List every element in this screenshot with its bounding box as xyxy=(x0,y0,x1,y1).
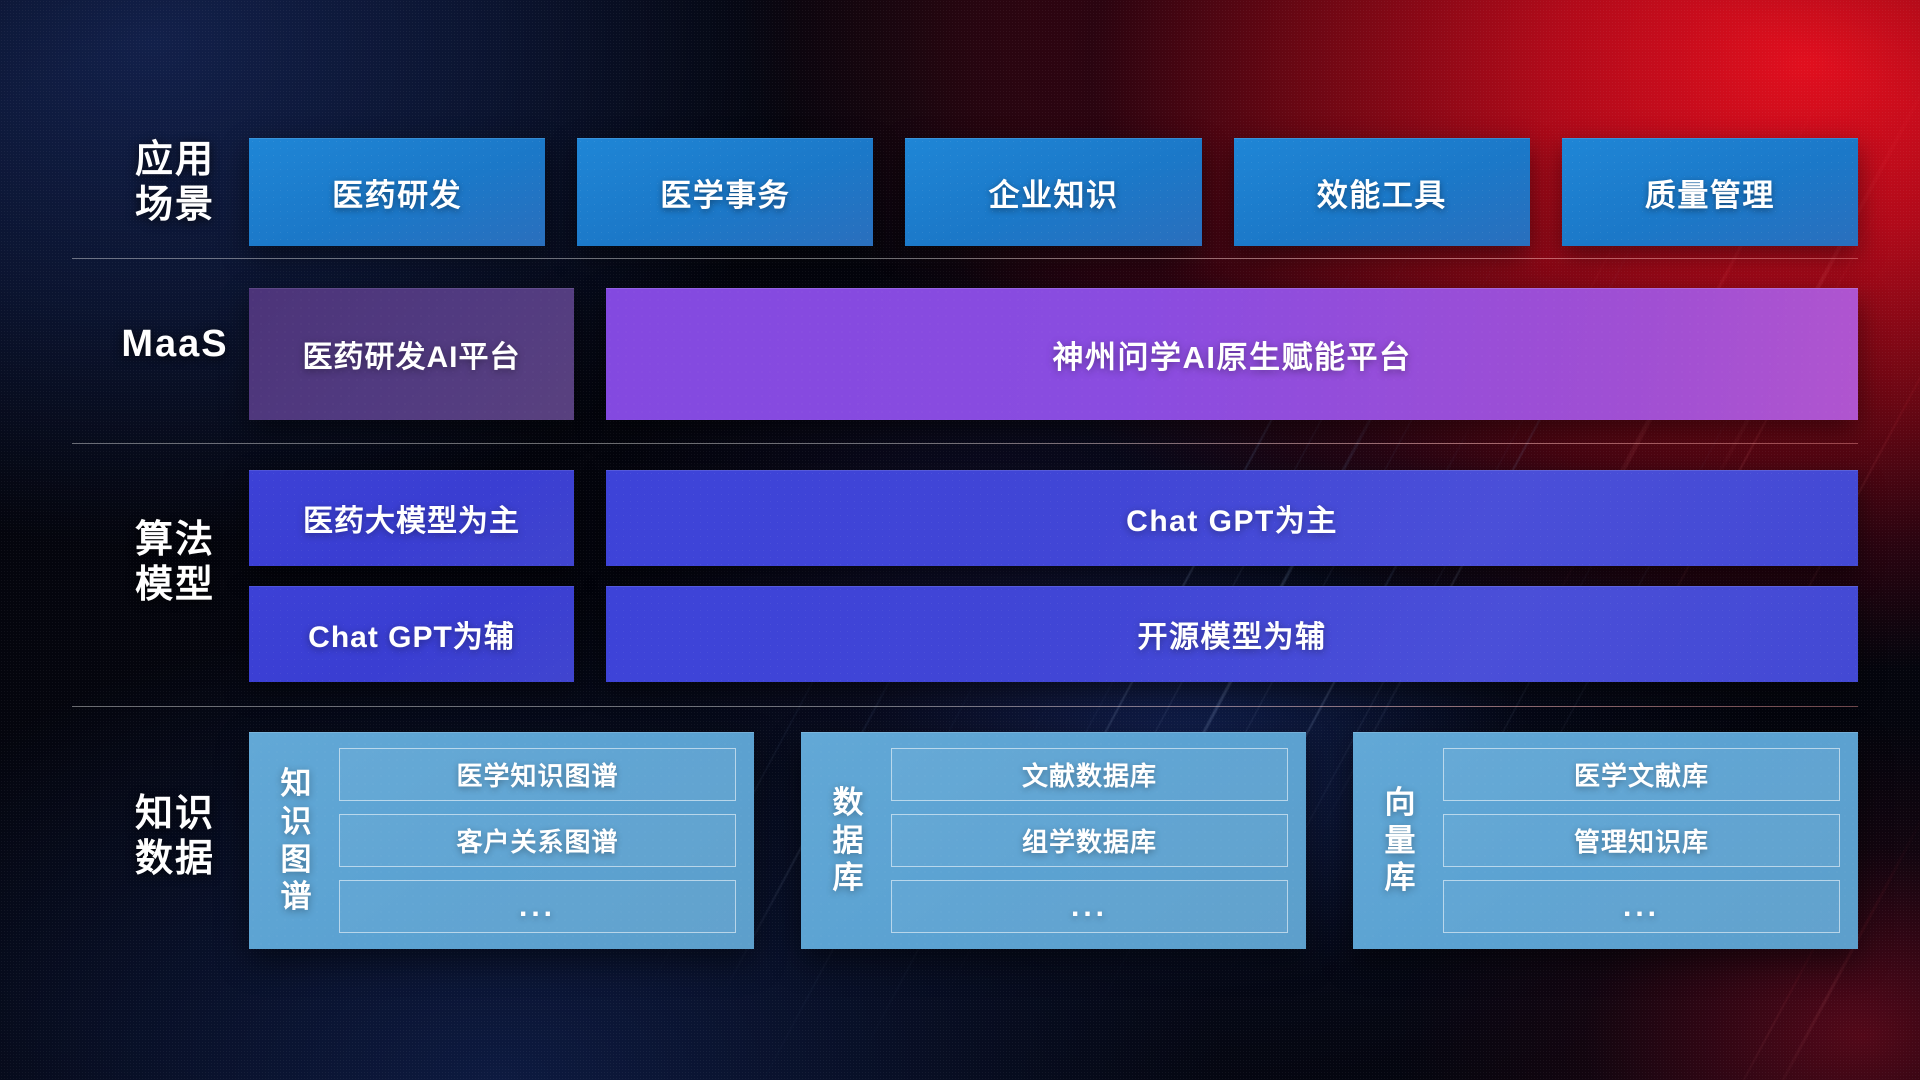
divider-application-maas xyxy=(72,258,1858,259)
knowledge-label-line-1: 知识 xyxy=(95,792,255,837)
divider-maas-algorithm xyxy=(72,443,1858,444)
algorithm-band-1-right-label: Chat GPT为主 xyxy=(1126,496,1338,540)
architecture-diagram: 应用场景 医药研发医学事务企业知识效能工具质量管理 MaaS 医药研发AI平台神… xyxy=(0,0,1920,1080)
application-card-label: 质量管理 xyxy=(1645,170,1775,215)
knowledge-item[interactable]: ... xyxy=(339,880,736,933)
application-card-5[interactable]: 质量管理 xyxy=(1562,138,1858,246)
algorithm-band-2-left-label: Chat GPT为辅 xyxy=(308,612,515,656)
application-label-line-2: 场景 xyxy=(95,183,255,228)
maas-label-line-1: MaaS xyxy=(95,322,255,367)
knowledge-group-3-vertical-label: 向量库 xyxy=(1371,748,1429,933)
knowledge-vertical-label-char-2: 量 xyxy=(1385,822,1416,860)
knowledge-item[interactable]: 组学数据库 xyxy=(891,814,1288,867)
row-label-algorithm-model: 算法模型 xyxy=(95,518,255,608)
knowledge-group-3-items: 医学文献库管理知识库... xyxy=(1443,748,1840,933)
knowledge-vertical-label-char-3: 库 xyxy=(833,859,864,897)
algorithm-band-1-left[interactable]: 医药大模型为主 xyxy=(249,470,574,566)
knowledge-label-line-2: 数据 xyxy=(95,837,255,882)
maas-platform-left[interactable]: 医药研发AI平台 xyxy=(249,288,574,420)
knowledge-group-track: 知识图谱医学知识图谱客户关系图谱...数据库文献数据库组学数据库...向量库医学… xyxy=(249,732,1858,949)
maas-platform-left-label: 医药研发AI平台 xyxy=(303,332,521,376)
application-card-track: 医药研发医学事务企业知识效能工具质量管理 xyxy=(249,138,1858,246)
knowledge-vertical-label-char-1: 知 xyxy=(281,765,312,803)
knowledge-item[interactable]: 客户关系图谱 xyxy=(339,814,736,867)
maas-platform-right-label: 神州问学AI原生赋能平台 xyxy=(1053,332,1412,377)
knowledge-vertical-label-char-2: 据 xyxy=(833,822,864,860)
algorithm-band-2-right[interactable]: 开源模型为辅 xyxy=(606,586,1858,682)
application-card-label: 医药研发 xyxy=(332,170,462,215)
maas-platform-track: 医药研发AI平台神州问学AI原生赋能平台 xyxy=(249,288,1858,420)
knowledge-vertical-label-char-4: 谱 xyxy=(281,878,312,916)
algorithm-label-line-2: 模型 xyxy=(95,563,255,608)
knowledge-item[interactable]: ... xyxy=(891,880,1288,933)
algorithm-band-2-right-label: 开源模型为辅 xyxy=(1138,612,1327,656)
algorithm-band-secondary: Chat GPT为辅开源模型为辅 xyxy=(249,586,1858,682)
algorithm-band-2-left[interactable]: Chat GPT为辅 xyxy=(249,586,574,682)
knowledge-item[interactable]: ... xyxy=(1443,880,1840,933)
knowledge-vertical-label-char-1: 数 xyxy=(833,784,864,822)
knowledge-item[interactable]: 文献数据库 xyxy=(891,748,1288,801)
row-label-knowledge-data: 知识数据 xyxy=(95,792,255,882)
application-label-line-1: 应用 xyxy=(95,138,255,183)
knowledge-vertical-label-char-2: 识 xyxy=(281,803,312,841)
knowledge-vertical-label-char-3: 库 xyxy=(1385,859,1416,897)
knowledge-item[interactable]: 医学知识图谱 xyxy=(339,748,736,801)
knowledge-group-2: 数据库文献数据库组学数据库... xyxy=(801,732,1306,949)
algorithm-band-1-right[interactable]: Chat GPT为主 xyxy=(606,470,1858,566)
algorithm-band-primary: 医药大模型为主Chat GPT为主 xyxy=(249,470,1858,566)
knowledge-group-2-vertical-label: 数据库 xyxy=(819,748,877,933)
knowledge-group-3: 向量库医学文献库管理知识库... xyxy=(1353,732,1858,949)
algorithm-band-1-left-label: 医药大模型为主 xyxy=(303,496,520,540)
knowledge-item[interactable]: 管理知识库 xyxy=(1443,814,1840,867)
row-label-maas: MaaS xyxy=(95,322,255,367)
knowledge-vertical-label-char-3: 图 xyxy=(281,841,312,879)
application-card-label: 医学事务 xyxy=(660,170,790,215)
knowledge-vertical-label-char-1: 向 xyxy=(1385,784,1416,822)
application-card-1[interactable]: 医药研发 xyxy=(249,138,545,246)
row-label-application-scenarios: 应用场景 xyxy=(95,138,255,228)
algorithm-label-line-1: 算法 xyxy=(95,518,255,563)
application-card-3[interactable]: 企业知识 xyxy=(905,138,1201,246)
application-card-2[interactable]: 医学事务 xyxy=(577,138,873,246)
application-card-label: 效能工具 xyxy=(1317,170,1447,215)
application-card-4[interactable]: 效能工具 xyxy=(1234,138,1530,246)
knowledge-group-1-vertical-label: 知识图谱 xyxy=(267,748,325,933)
knowledge-group-2-items: 文献数据库组学数据库... xyxy=(891,748,1288,933)
maas-platform-right[interactable]: 神州问学AI原生赋能平台 xyxy=(606,288,1858,420)
knowledge-group-1: 知识图谱医学知识图谱客户关系图谱... xyxy=(249,732,754,949)
divider-algorithm-knowledge xyxy=(72,706,1858,707)
application-card-label: 企业知识 xyxy=(989,170,1119,215)
knowledge-group-1-items: 医学知识图谱客户关系图谱... xyxy=(339,748,736,933)
knowledge-item[interactable]: 医学文献库 xyxy=(1443,748,1840,801)
